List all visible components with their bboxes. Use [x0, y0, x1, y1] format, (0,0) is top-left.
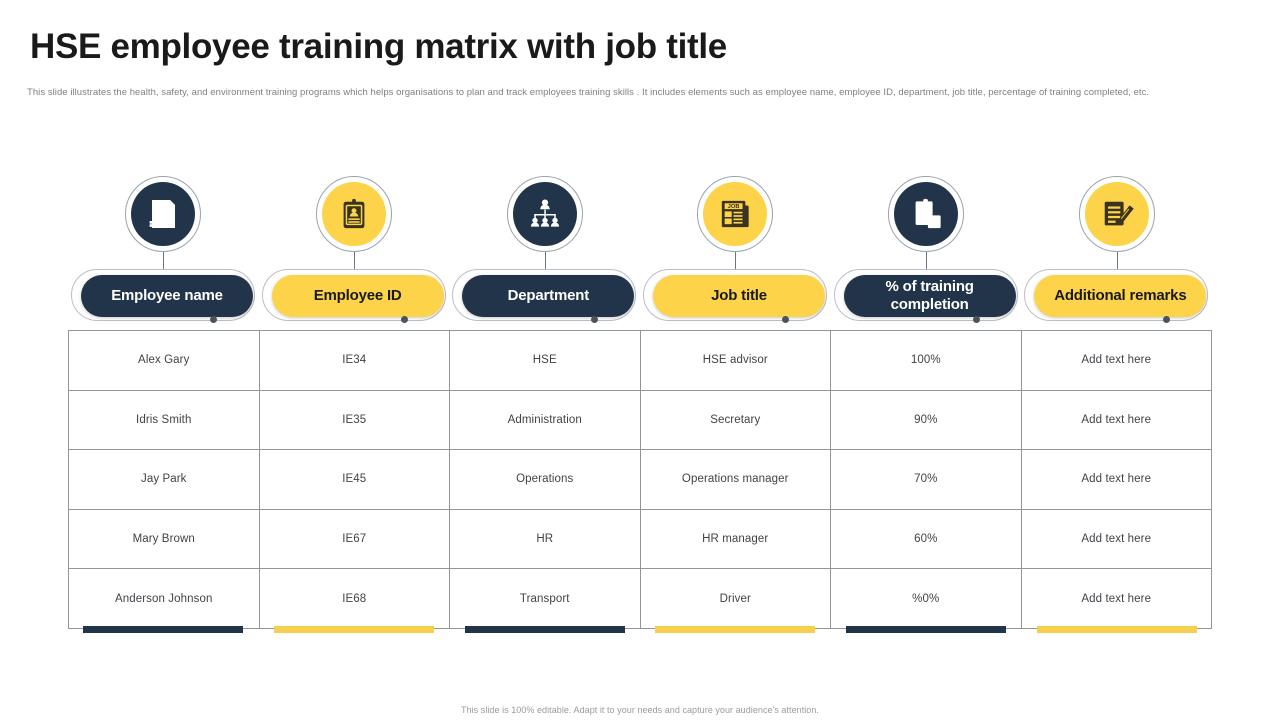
slide-footer-note: This slide is 100% editable. Adapt it to…	[0, 705, 1280, 715]
cell-0-1[interactable]: IE34	[259, 331, 450, 391]
header-node-dot	[782, 316, 789, 323]
header-pill-label[interactable]: % of training completion	[844, 275, 1016, 317]
cell-0-0[interactable]: Alex Gary	[69, 331, 260, 391]
clipboard-checklist-icon	[894, 182, 958, 246]
header-pill-label[interactable]: Department	[462, 275, 634, 317]
icon-ring	[316, 176, 392, 252]
accent-bar	[83, 626, 243, 633]
cell-2-1[interactable]: IE45	[259, 450, 450, 510]
cell-3-3[interactable]: HR manager	[640, 509, 831, 569]
table-body: Alex GaryIE34HSEHSE advisor100%Add text …	[69, 331, 1212, 629]
header-outline: Additional remarks	[1024, 269, 1208, 321]
cell-3-2[interactable]: HR	[450, 509, 641, 569]
header-node-dot	[1163, 316, 1170, 323]
accent-cell-0	[68, 626, 259, 634]
accent-bar	[846, 626, 1006, 633]
cell-1-5[interactable]: Add text here	[1021, 390, 1212, 450]
header-pill-label[interactable]: Job title	[653, 275, 825, 317]
table-row: Jay ParkIE45OperationsOperations manager…	[69, 450, 1212, 510]
page-title: HSE employee training matrix with job ti…	[30, 28, 1230, 67]
icon-ring: JOB	[697, 176, 773, 252]
page-subtitle: This slide illustrates the health, safet…	[27, 86, 1212, 100]
column-icon-cell-1	[259, 176, 450, 254]
table-row: Mary BrownIE67HRHR manager60%Add text he…	[69, 509, 1212, 569]
column-icon-cell-2	[449, 176, 640, 254]
cell-3-1[interactable]: IE67	[259, 509, 450, 569]
cell-1-4[interactable]: 90%	[831, 390, 1022, 450]
column-header-2[interactable]: Department	[449, 269, 640, 323]
header-pill-label[interactable]: Additional remarks	[1034, 275, 1206, 317]
cell-4-4[interactable]: %0%	[831, 569, 1022, 629]
table-row: Idris SmithIE35AdministrationSecretary90…	[69, 390, 1212, 450]
header-outline: % of training completion	[834, 269, 1018, 321]
header-pill-label[interactable]: Employee name	[81, 275, 253, 317]
header-pill-label[interactable]: Employee ID	[272, 275, 444, 317]
header-node-dot	[210, 316, 217, 323]
accent-cell-1	[259, 626, 450, 634]
cell-2-5[interactable]: Add text here	[1021, 450, 1212, 510]
icon-ring	[888, 176, 964, 252]
cell-1-0[interactable]: Idris Smith	[69, 390, 260, 450]
header-outline: Employee ID	[262, 269, 446, 321]
accent-cell-2	[449, 626, 640, 634]
cell-1-3[interactable]: Secretary	[640, 390, 831, 450]
id-badge-icon	[322, 182, 386, 246]
slide-canvas: HSE employee training matrix with job ti…	[0, 0, 1280, 720]
column-header-row: Employee nameEmployee IDDepartmentJob ti…	[68, 269, 1212, 323]
column-header-0[interactable]: Employee name	[68, 269, 259, 323]
accent-bar	[655, 626, 815, 633]
accent-cell-3	[640, 626, 831, 634]
accent-bar-row	[68, 626, 1212, 634]
table-row: Alex GaryIE34HSEHSE advisor100%Add text …	[69, 331, 1212, 391]
cell-2-3[interactable]: Operations manager	[640, 450, 831, 510]
icon-ring	[507, 176, 583, 252]
notepad-pencil-icon	[1085, 182, 1149, 246]
cell-0-3[interactable]: HSE advisor	[640, 331, 831, 391]
icon-row: JOB	[68, 176, 1212, 254]
cell-4-2[interactable]: Transport	[450, 569, 641, 629]
cell-1-2[interactable]: Administration	[450, 390, 641, 450]
cell-0-2[interactable]: HSE	[450, 331, 641, 391]
cell-4-5[interactable]: Add text here	[1021, 569, 1212, 629]
accent-cell-5	[1021, 626, 1212, 634]
column-icon-cell-0	[68, 176, 259, 254]
cell-2-0[interactable]: Jay Park	[69, 450, 260, 510]
svg-text:JOB: JOB	[728, 204, 740, 210]
icon-ring	[125, 176, 201, 252]
column-header-1[interactable]: Employee ID	[259, 269, 450, 323]
training-matrix-table: Alex GaryIE34HSEHSE advisor100%Add text …	[68, 330, 1212, 629]
accent-bar	[1037, 626, 1197, 633]
cell-0-4[interactable]: 100%	[831, 331, 1022, 391]
resume-document-icon	[131, 182, 195, 246]
column-header-3[interactable]: Job title	[640, 269, 831, 323]
column-icon-cell-4	[831, 176, 1022, 254]
header-outline: Job title	[643, 269, 827, 321]
cell-3-5[interactable]: Add text here	[1021, 509, 1212, 569]
header-outline: Employee name	[71, 269, 255, 321]
cell-3-4[interactable]: 60%	[831, 509, 1022, 569]
cell-3-0[interactable]: Mary Brown	[69, 509, 260, 569]
icon-ring	[1079, 176, 1155, 252]
training-matrix-table-wrapper: Alex GaryIE34HSEHSE advisor100%Add text …	[68, 330, 1212, 629]
org-chart-icon	[513, 182, 577, 246]
cell-4-1[interactable]: IE68	[259, 569, 450, 629]
header-outline: Department	[452, 269, 636, 321]
cell-4-0[interactable]: Anderson Johnson	[69, 569, 260, 629]
header-node-dot	[591, 316, 598, 323]
header-node-dot	[401, 316, 408, 323]
cell-2-2[interactable]: Operations	[450, 450, 641, 510]
accent-bar	[465, 626, 625, 633]
accent-bar	[274, 626, 434, 633]
column-header-4[interactable]: % of training completion	[831, 269, 1022, 323]
cell-2-4[interactable]: 70%	[831, 450, 1022, 510]
cell-1-1[interactable]: IE35	[259, 390, 450, 450]
column-header-5[interactable]: Additional remarks	[1021, 269, 1212, 323]
accent-cell-4	[831, 626, 1022, 634]
table-row: Anderson JohnsonIE68TransportDriver%0%Ad…	[69, 569, 1212, 629]
job-listing-icon: JOB	[703, 182, 767, 246]
cell-4-3[interactable]: Driver	[640, 569, 831, 629]
column-icon-cell-5	[1021, 176, 1212, 254]
column-icon-cell-3: JOB	[640, 176, 831, 254]
header-node-dot	[973, 316, 980, 323]
cell-0-5[interactable]: Add text here	[1021, 331, 1212, 391]
